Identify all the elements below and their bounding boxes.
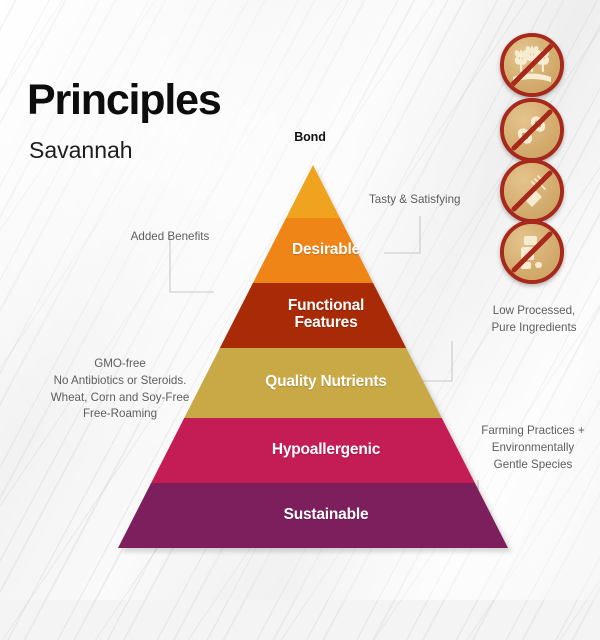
syringe-icon: [504, 163, 560, 219]
no-gmo-badge: [500, 220, 564, 284]
callout-text-line: Wheat, Corn and Soy-Free: [10, 390, 230, 407]
badge-face: [504, 163, 560, 219]
no-wheat-badge: [500, 33, 564, 97]
callout-text: Added Benefits: [88, 229, 252, 246]
pyramid-tier-label-line: Sustainable: [26, 506, 600, 523]
soy-icon: [504, 102, 560, 158]
callout-text-line: Gentle Species: [466, 457, 600, 474]
callout-text-line: Low Processed,: [464, 303, 600, 320]
callout-text-line: Free-Roaming: [10, 406, 230, 423]
pyramid-tier: [286, 165, 340, 218]
callout-added-benefits: Added Benefits: [88, 229, 252, 246]
callout-farming-practices: Farming Practices + Environmentally Gent…: [466, 423, 600, 473]
infographic-canvas: Principles Savannah Bond DesirableFuncti…: [0, 0, 600, 600]
callout-low-processed: Low Processed, Pure Ingredients: [464, 303, 600, 337]
no-antibiotics-badge: [500, 159, 564, 223]
callout-text-line: Environmentally: [466, 440, 600, 457]
wheat-icon: [504, 37, 560, 93]
badge-face: [504, 102, 560, 158]
callout-quality-nutrients-detail: GMO-free No Antibiotics or Steroids. Whe…: [10, 356, 230, 423]
no-soy-badge: [500, 98, 564, 162]
callout-text-line: Pure Ingredients: [464, 320, 600, 337]
callout-text-line: GMO-free: [10, 356, 230, 373]
badge-face: [504, 224, 560, 280]
badge-face: [504, 37, 560, 93]
lab-icon: [504, 224, 560, 280]
pyramid-tier-label: Sustainable: [0, 506, 600, 523]
callout-text-line: No Antibiotics or Steroids.: [10, 373, 230, 390]
callout-text-line: Farming Practices +: [466, 423, 600, 440]
